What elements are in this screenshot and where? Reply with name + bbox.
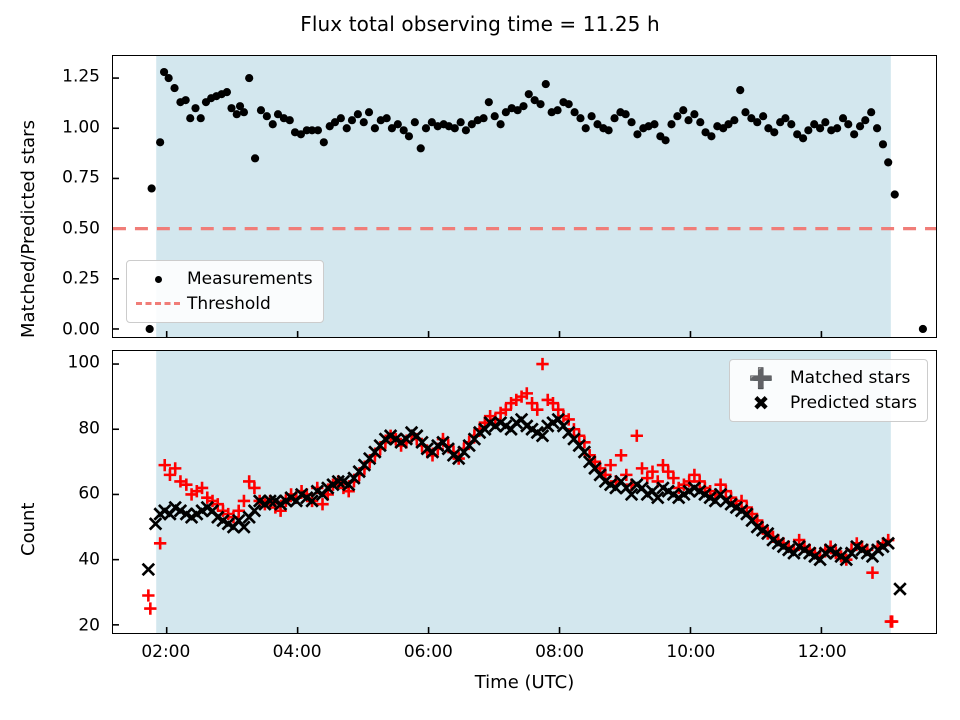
x-tick-label: 06:00 — [404, 644, 453, 661]
x-tick-label: 04:00 — [273, 644, 322, 661]
dashed-line-icon — [135, 302, 181, 305]
y-tick-label: 80 — [38, 420, 100, 437]
x-axis-label: Time (UTC) — [112, 672, 937, 693]
y-tick-label: 40 — [38, 552, 100, 569]
top-y-tick-labels: 0.000.250.500.751.001.25 — [38, 55, 100, 338]
x-tick-label: 02:00 — [141, 644, 190, 661]
legend-label-measurements: Measurements — [181, 267, 313, 292]
legend-item-predicted-stars: ✖ Predicted stars — [738, 391, 917, 416]
y-tick-label: 0.50 — [38, 220, 100, 237]
bottom-panel-legend: ➕ Matched stars ✖ Predicted stars — [729, 359, 928, 422]
y-tick-label: 0.75 — [38, 170, 100, 187]
y-tick-label: 1.00 — [38, 119, 100, 136]
y-tick-label: 20 — [38, 617, 100, 634]
top-panel-legend: Measurements Threshold — [126, 260, 324, 323]
page-title: Flux total observing time = 11.25 h — [0, 12, 960, 36]
dot-marker-icon — [135, 276, 181, 283]
bottom-panel-axes: ➕ Matched stars ✖ Predicted stars — [112, 350, 937, 634]
y-tick-label: 60 — [38, 486, 100, 503]
y-tick-label: 1.25 — [38, 69, 100, 86]
bottom-y-tick-labels: 20406080100 — [38, 350, 100, 634]
x-tick-label: 12:00 — [798, 644, 847, 661]
x-tick-label: 08:00 — [535, 644, 584, 661]
legend-item-matched-stars: ➕ Matched stars — [738, 366, 917, 391]
legend-item-measurements: Measurements — [135, 267, 313, 292]
figure-canvas: Flux total observing time = 11.25 h 0.00… — [0, 0, 960, 720]
legend-label-predicted-stars: Predicted stars — [784, 391, 917, 416]
legend-label-threshold: Threshold — [181, 292, 271, 317]
y-tick-label: 0.00 — [38, 321, 100, 338]
plus-marker-icon: ➕ — [738, 368, 784, 388]
top-y-axis-label: Matched/Predicted stars — [18, 120, 39, 338]
x-tick-label: 10:00 — [666, 644, 715, 661]
cross-marker-icon: ✖ — [738, 393, 784, 413]
y-tick-label: 100 — [38, 355, 100, 372]
y-tick-label: 0.25 — [38, 271, 100, 288]
legend-item-threshold: Threshold — [135, 292, 313, 317]
bottom-y-axis-label: Count — [18, 503, 39, 556]
legend-label-matched-stars: Matched stars — [784, 366, 910, 391]
